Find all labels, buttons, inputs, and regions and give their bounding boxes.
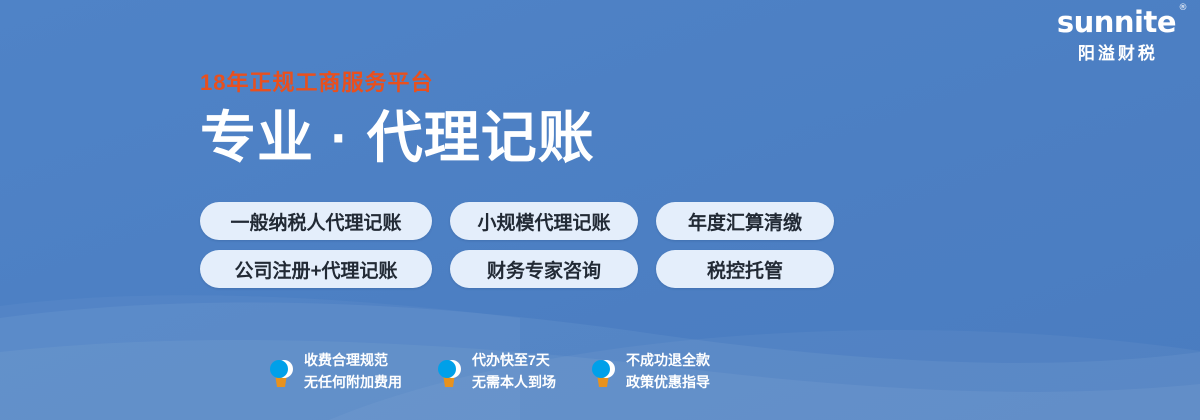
logo-wordmark-text: sunnite	[1057, 5, 1176, 39]
registered-trademark-icon: ®	[1179, 4, 1188, 13]
badge-icon	[590, 355, 616, 389]
feature-line2: 无任何附加费用	[304, 372, 402, 394]
feature-line1: 不成功退全款	[626, 352, 710, 368]
feature-item-speed: 代办快至7天 无需本人到场	[436, 350, 556, 393]
feature-line2: 政策优惠指导	[626, 372, 710, 394]
badge-icon-svg	[268, 355, 294, 389]
feature-strip: 收费合理规范 无任何附加费用 代办快至7天 无需本人到场	[268, 350, 710, 393]
service-pill-company-register[interactable]: 公司注册+代理记账	[200, 250, 432, 288]
badge-icon	[268, 355, 294, 389]
hero-headline: 专业 · 代理记账	[200, 106, 595, 170]
hero-text-block: 18年正规工商服务平台 专业 · 代理记账	[200, 70, 595, 171]
brand-logo[interactable]: sunnite ® 阳溢财税	[1057, 8, 1176, 62]
feature-line1: 代办快至7天	[472, 352, 550, 368]
service-pill-tax-control[interactable]: 税控托管	[656, 250, 834, 288]
logo-wordmark: sunnite ®	[1057, 8, 1176, 37]
feature-text-speed: 代办快至7天 无需本人到场	[472, 350, 556, 393]
service-pill-grid: 一般纳税人代理记账 小规模代理记账 年度汇算清缴 公司注册+代理记账 财务专家咨…	[200, 202, 834, 288]
service-pill-annual-settlement[interactable]: 年度汇算清缴	[656, 202, 834, 240]
badge-icon	[436, 355, 462, 389]
service-pill-general-taxpayer[interactable]: 一般纳税人代理记账	[200, 202, 432, 240]
service-pill-small-scale[interactable]: 小规模代理记账	[450, 202, 638, 240]
hero-eyebrow: 18年正规工商服务平台	[200, 70, 595, 96]
logo-chinese-name: 阳溢财税	[1057, 45, 1176, 62]
service-pill-expert-consult[interactable]: 财务专家咨询	[450, 250, 638, 288]
badge-icon-svg	[436, 355, 462, 389]
feature-item-guarantee: 不成功退全款 政策优惠指导	[590, 350, 710, 393]
feature-text-guarantee: 不成功退全款 政策优惠指导	[626, 350, 710, 393]
promo-banner: sunnite ® 阳溢财税 18年正规工商服务平台 专业 · 代理记账 一般纳…	[0, 0, 1200, 420]
badge-icon-svg	[590, 355, 616, 389]
feature-text-pricing: 收费合理规范 无任何附加费用	[304, 350, 402, 393]
feature-line2: 无需本人到场	[472, 372, 556, 394]
feature-item-pricing: 收费合理规范 无任何附加费用	[268, 350, 402, 393]
feature-line1: 收费合理规范	[304, 352, 388, 368]
